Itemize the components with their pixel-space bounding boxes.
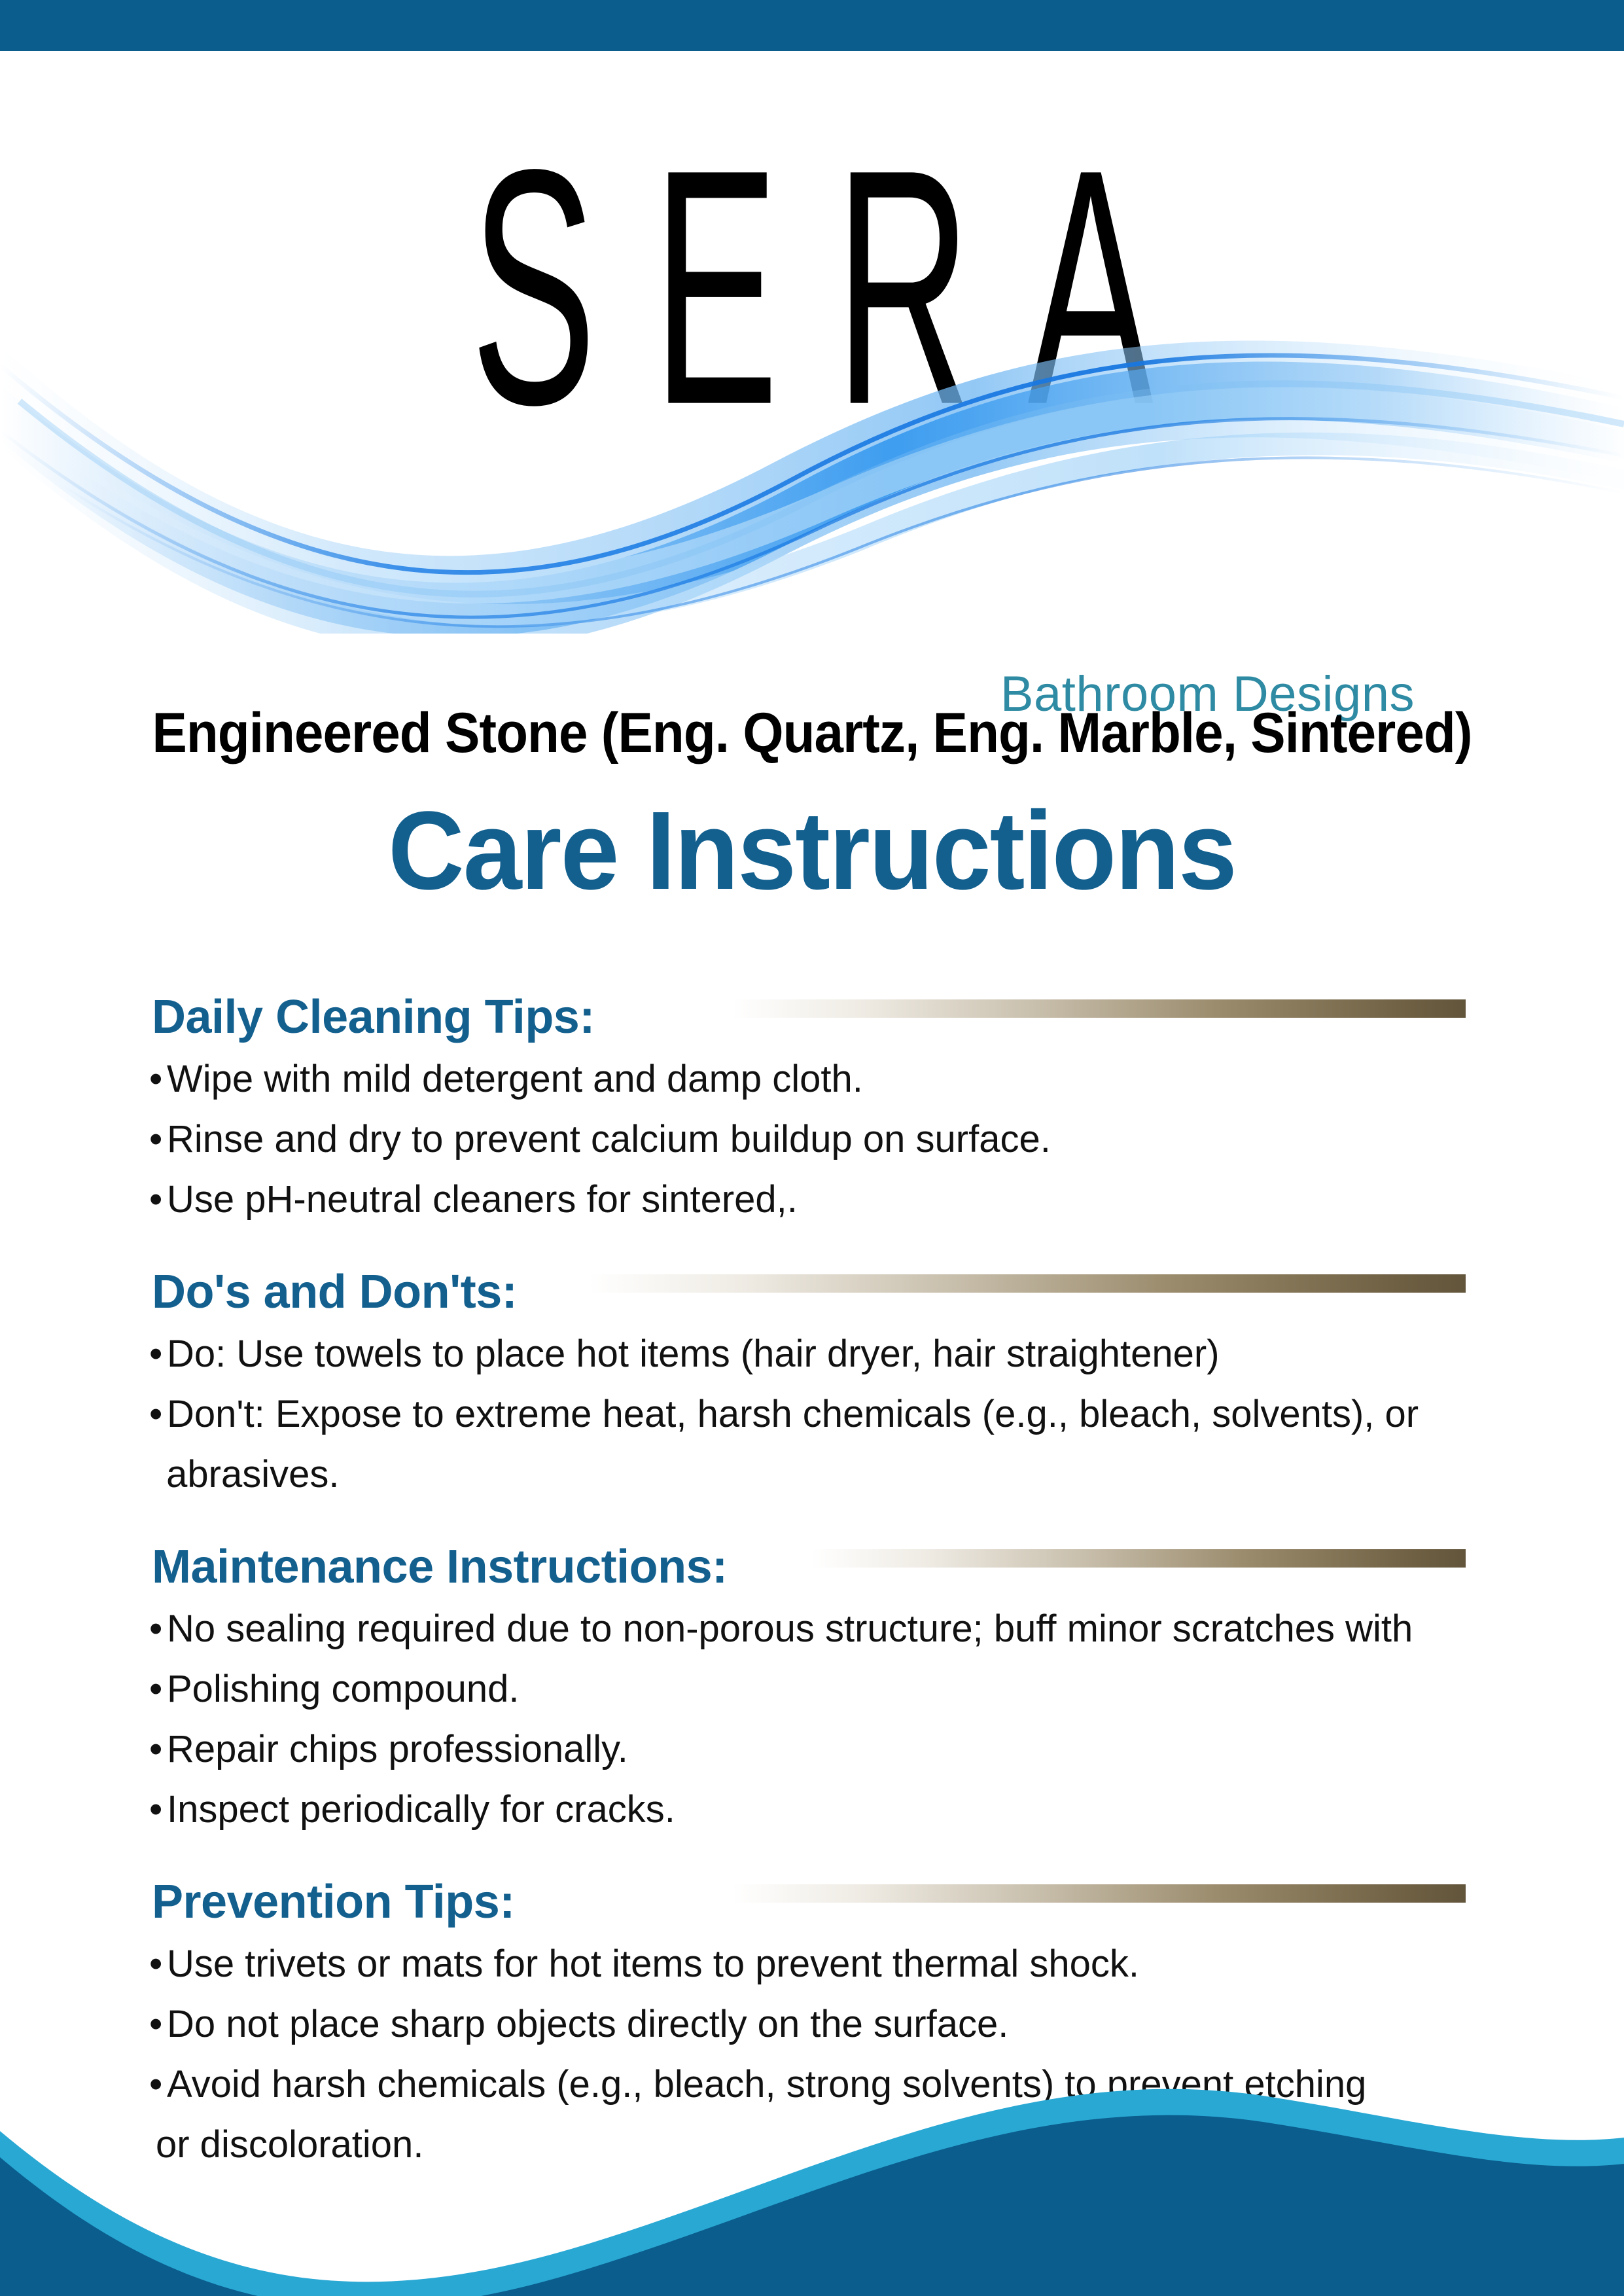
bullet-list: •Do: Use towels to place hot items (hair…	[0, 1331, 1624, 1498]
bullet-dot-icon: •	[149, 1666, 162, 1712]
bullet-dot-icon: •	[149, 1117, 162, 1162]
section-title-daily-cleaning-tips: Daily Cleaning Tips:	[152, 992, 595, 1042]
section-maintenance-instructions: Maintenance Instructions: •No sealing re…	[0, 1532, 1624, 1833]
list-item: •Use trivets or mats for hot items to pr…	[0, 1941, 1624, 1987]
bullet-dot-icon: •	[149, 1941, 162, 1987]
bullet-dot-icon: •	[149, 1727, 162, 1772]
sera-logo-wordmark: SERA	[227, 120, 1396, 455]
list-item-text: Polishing compound.	[167, 1668, 519, 1710]
section-dos-and-donts: Do's and Don'ts: •Do: Use towels to plac…	[0, 1257, 1624, 1498]
list-item: •Don't: Expose to extreme heat, harsh ch…	[0, 1391, 1624, 1437]
poster-header: SERA	[0, 51, 1624, 692]
bullet-list: •No sealing required due to non-porous s…	[0, 1606, 1624, 1833]
list-item-text: No sealing required due to non-porous st…	[167, 1607, 1413, 1650]
list-item: •Do: Use towels to place hot items (hair…	[0, 1331, 1624, 1377]
list-item-text: abrasives.	[156, 1453, 339, 1496]
section-title-maintenance-instructions: Maintenance Instructions:	[152, 1542, 728, 1592]
bullet-dot-icon: •	[149, 1787, 162, 1833]
section-divider-rule	[733, 999, 1466, 1018]
poster-subtitle: Engineered Stone (Eng. Quartz, Eng. Marb…	[57, 702, 1567, 764]
list-item: •Wipe with mild detergent and damp cloth…	[0, 1056, 1624, 1102]
section-header: Daily Cleaning Tips:	[0, 982, 1624, 1042]
list-item-text: Use trivets or mats for hot items to pre…	[167, 1943, 1139, 1985]
list-item-text: Use pH-neutral cleaners for sintered,.	[167, 1178, 798, 1221]
list-item-continuation: abrasives.	[0, 1452, 1624, 1498]
list-item: •Inspect periodically for cracks.	[0, 1787, 1624, 1833]
section-header: Do's and Don'ts:	[0, 1257, 1624, 1317]
list-item-text: Do not place sharp objects directly on t…	[167, 2003, 1008, 2045]
list-item: •Do not place sharp objects directly on …	[0, 2001, 1624, 2047]
list-item-text: Repair chips professionally.	[167, 1728, 628, 1770]
bullet-dot-icon: •	[149, 1606, 162, 1652]
list-item: •No sealing required due to non-porous s…	[0, 1606, 1624, 1652]
bullet-dot-icon: •	[149, 1056, 162, 1102]
list-item-text: Don't: Expose to extreme heat, harsh che…	[167, 1393, 1419, 1435]
list-item: •Use pH-neutral cleaners for sintered,.	[0, 1177, 1624, 1223]
section-daily-cleaning-tips: Daily Cleaning Tips: •Wipe with mild det…	[0, 982, 1624, 1223]
list-item: •Repair chips professionally.	[0, 1727, 1624, 1772]
section-spacer	[0, 1833, 1624, 1867]
section-spacer	[0, 1223, 1624, 1257]
list-item: •Rinse and dry to prevent calcium buildu…	[0, 1117, 1624, 1162]
section-divider-rule	[589, 1274, 1466, 1293]
section-header: Prevention Tips:	[0, 1867, 1624, 1927]
section-title-dos-and-donts: Do's and Don'ts:	[152, 1267, 517, 1317]
bullet-dot-icon: •	[149, 1331, 162, 1377]
care-instructions-sections: Daily Cleaning Tips: •Wipe with mild det…	[0, 982, 1624, 2168]
top-accent-bar	[0, 0, 1624, 51]
list-item-text: Do: Use towels to place hot items (hair …	[167, 1333, 1220, 1375]
section-title-prevention-tips: Prevention Tips:	[152, 1877, 515, 1927]
list-item: •Polishing compound.	[0, 1666, 1624, 1712]
list-item-text: Rinse and dry to prevent calcium buildup…	[167, 1118, 1051, 1160]
section-divider-rule	[811, 1549, 1466, 1568]
bullet-list: •Wipe with mild detergent and damp cloth…	[0, 1056, 1624, 1223]
list-item-text: Inspect periodically for cracks.	[167, 1788, 675, 1831]
page-title: Care Instructions	[41, 791, 1583, 912]
bullet-dot-icon: •	[149, 1177, 162, 1223]
section-divider-rule	[733, 1884, 1466, 1903]
list-item-text: Wipe with mild detergent and damp cloth.	[167, 1058, 863, 1100]
bullet-dot-icon: •	[149, 1391, 162, 1437]
section-spacer	[0, 1498, 1624, 1532]
section-header: Maintenance Instructions:	[0, 1532, 1624, 1592]
footer-wave-graphic	[0, 2080, 1624, 2296]
bullet-dot-icon: •	[149, 2001, 162, 2047]
